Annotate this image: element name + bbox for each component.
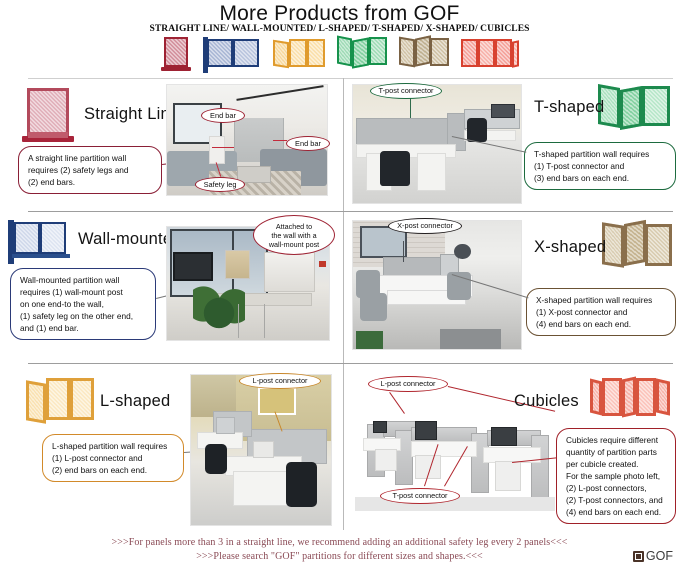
straight-line-label-end-bar-1: End bar — [201, 108, 245, 123]
x-shaped-icon — [602, 218, 672, 278]
swatch-x-shaped — [399, 35, 449, 75]
page-title: More Products from GOF — [0, 2, 679, 26]
divider-top — [28, 78, 673, 79]
cubicles-description: Cubicles require different quantity of p… — [556, 428, 676, 524]
t-shaped-photo — [352, 84, 522, 204]
swatch-wall-mounted — [203, 35, 261, 75]
l-shaped-icon — [26, 374, 96, 430]
straight-line-title: Straight Line — [84, 105, 179, 124]
section-straight-line: Straight Line A straight line partition … — [0, 80, 343, 211]
l-shaped-photo — [190, 374, 332, 526]
gof-logo-text: GOF — [646, 549, 673, 563]
cubicles-title: Cubicles — [514, 392, 579, 411]
section-t-shaped: T-post connector T-shaped T-shaped parti… — [344, 80, 679, 211]
swatch-straight-line — [161, 35, 191, 75]
swatch-cubicles — [461, 35, 519, 75]
section-wall-mounted: Wall-mounted Wall-mounted partition wall… — [0, 212, 343, 363]
poster-root: More Products from GOF STRAIGHT LINE/ WA… — [0, 0, 679, 571]
swatch-l-shaped — [273, 35, 325, 75]
section-x-shaped: X-post connector X-shaped X-shaped parti… — [344, 212, 679, 363]
gof-logo: GOF — [633, 549, 673, 563]
product-swatch-row — [0, 33, 679, 75]
swatch-t-shaped — [337, 35, 387, 75]
straight-line-label-end-bar-2: End bar — [286, 136, 330, 151]
x-shaped-photo — [352, 220, 522, 350]
l-shaped-title: L-shaped — [100, 392, 170, 411]
straight-line-icon — [22, 88, 78, 150]
straight-line-description: A straight line partition wall requires … — [18, 146, 162, 194]
l-shaped-description: L-shaped partition wall requires (1) L-p… — [42, 434, 184, 482]
x-shaped-description: X-shaped partition wall requires (1) X-p… — [526, 288, 676, 336]
t-shaped-icon — [598, 84, 670, 142]
wall-mounted-icon — [8, 220, 70, 264]
footer-line-1: >>>For panels more than 3 in a straight … — [0, 537, 679, 548]
straight-line-label-safety-leg: Safety leg — [195, 177, 245, 192]
t-shaped-label-t-post-connector: T-post connector — [370, 83, 442, 99]
l-shaped-label-l-post-connector: L-post connector — [239, 373, 321, 389]
section-l-shaped: L-shaped L-shaped partition wall require… — [0, 364, 343, 526]
wall-mounted-description: Wall-mounted partition wall requires (1)… — [10, 268, 156, 340]
cubicles-label-l-post-connector: L-post connector — [368, 376, 448, 392]
cubicles-icon — [590, 376, 674, 426]
t-shaped-description: T-shaped partition wall requires (1) T-p… — [524, 142, 676, 190]
t-shaped-title: T-shaped — [534, 98, 604, 117]
footer-line-2: >>>Please search "GOF" partitions for di… — [0, 551, 679, 562]
x-shaped-label-x-post-connector: X-post connector — [388, 218, 462, 234]
wall-mounted-label-attached: Attached to the wall with a wall-mount p… — [253, 215, 335, 255]
x-shaped-title: X-shaped — [534, 238, 606, 257]
section-cubicles: L-post connector T-post connector Cubicl… — [344, 364, 679, 526]
cubicles-label-t-post-connector: T-post connector — [380, 488, 460, 504]
gof-logo-mark — [633, 551, 644, 562]
